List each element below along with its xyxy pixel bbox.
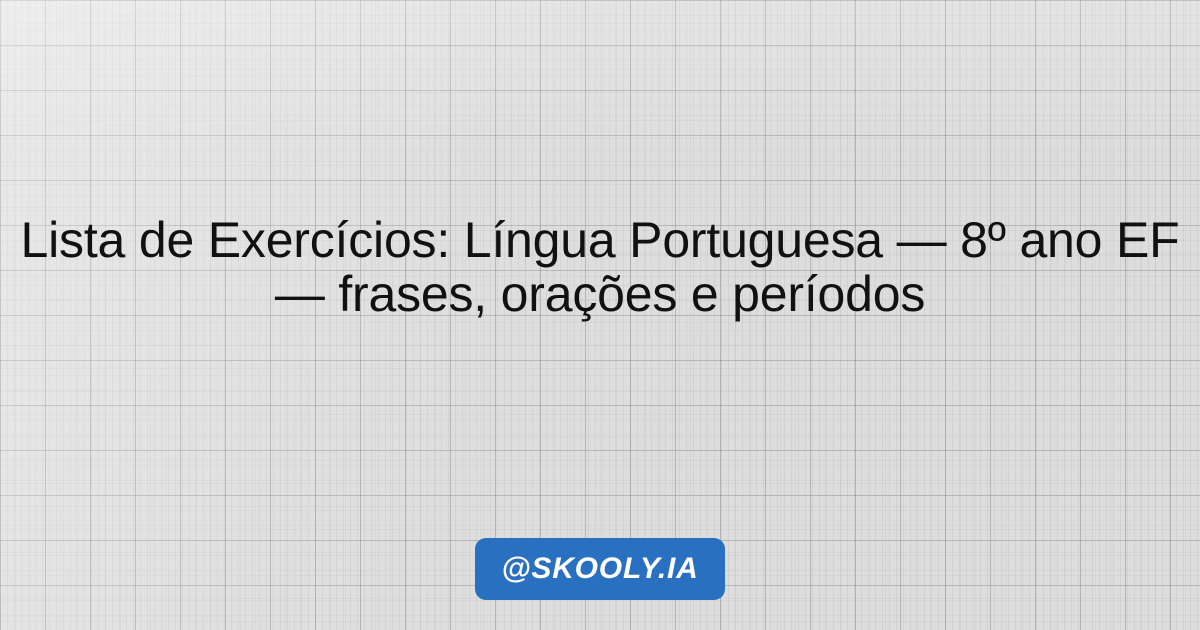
page-title: Lista de Exercícios: Língua Portuguesa —… [0, 213, 1200, 321]
brand-handle-badge: @SKOOLY.IA [475, 538, 724, 600]
social-share-card: Lista de Exercícios: Língua Portuguesa —… [0, 0, 1200, 630]
card-content: Lista de Exercícios: Língua Portuguesa —… [0, 0, 1200, 630]
badge-row: @SKOOLY.IA [0, 538, 1200, 600]
